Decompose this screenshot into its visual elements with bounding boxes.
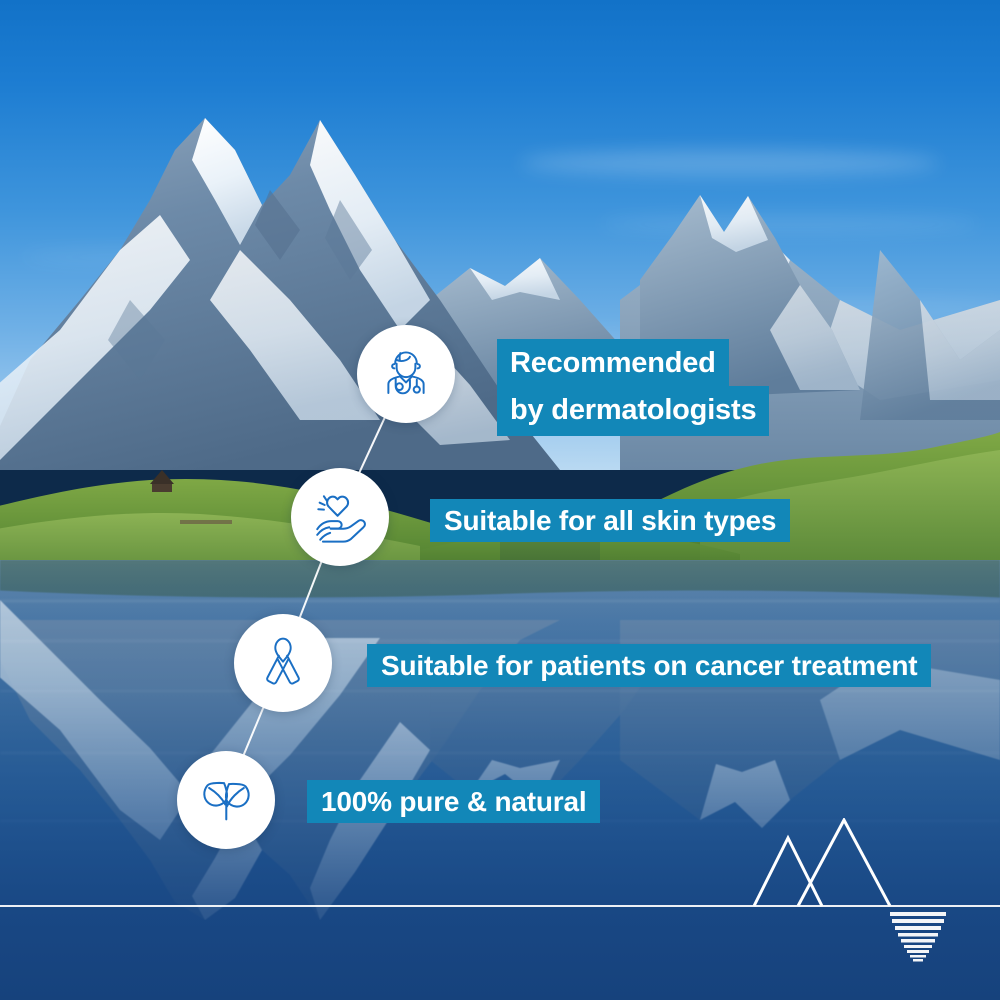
mountain-peaks-logo-mark (742, 818, 972, 963)
feature-label-text: Suitable for all skin types (444, 505, 776, 537)
feature-icon-circle-dermatologists[interactable] (357, 325, 455, 423)
feature-label-dermatologists: Recommended by dermatologists (497, 339, 769, 436)
feature-icon-circle-cancer-treatment[interactable] (234, 614, 332, 712)
logo-horizon-line (0, 905, 1000, 907)
feature-label-pure-natural: 100% pure & natural (307, 780, 600, 823)
feature-label-line: by dermatologists (497, 386, 769, 436)
awareness-ribbon-icon (253, 633, 313, 693)
logo-reflection-stripes (890, 912, 946, 962)
feature-label-text: Suitable for patients on cancer treatmen… (381, 650, 917, 682)
doctor-stethoscope-icon (376, 344, 436, 404)
banner-canvas: Recommended by dermatologists Suitable f… (0, 0, 1000, 1000)
feature-icon-circle-skin-types[interactable] (291, 468, 389, 566)
feature-label-line: Recommended (497, 339, 729, 388)
feature-icon-circle-pure-natural[interactable] (177, 751, 275, 849)
feature-label-text: 100% pure & natural (321, 786, 586, 818)
feature-label-skin-types: Suitable for all skin types (430, 499, 790, 542)
feature-label-cancer-treatment: Suitable for patients on cancer treatmen… (367, 644, 931, 687)
mountain-peaks-logo (742, 818, 972, 963)
leaves-icon (195, 769, 257, 831)
hand-heart-icon (309, 486, 371, 548)
